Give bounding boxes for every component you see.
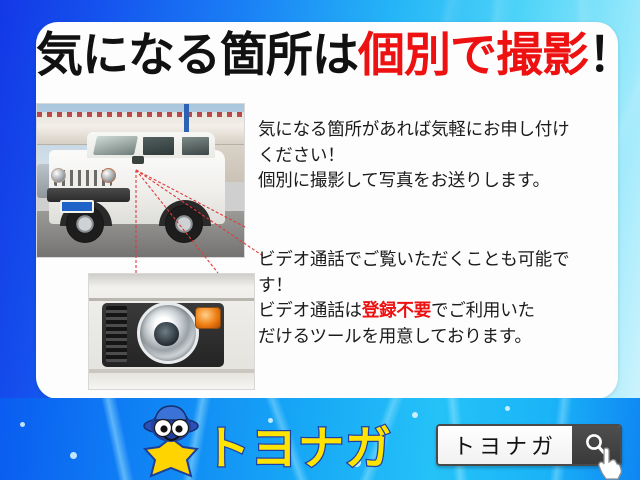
- search-input[interactable]: トヨナガ: [438, 426, 572, 464]
- closeup-headlight-lens: [137, 302, 199, 364]
- headline-part2-highlight: 個別で撮影: [358, 28, 588, 83]
- photo-side-window: [143, 137, 174, 155]
- network-node-dot: [20, 422, 25, 427]
- photo-rear-window: [182, 137, 209, 155]
- page-title: 気になる箇所は個別で撮影！: [36, 32, 618, 79]
- text1-line1: 気になる箇所があれば気軽にお申し付け: [258, 118, 610, 144]
- text2-line3-a: ビデオ通話は: [258, 301, 362, 321]
- text2-line3-b: でご利用いた: [431, 301, 535, 321]
- search-bar[interactable]: トヨナガ: [436, 424, 622, 466]
- photo-canopy-trim: [37, 112, 244, 117]
- closeup-panel-seam: [89, 298, 254, 301]
- closeup-grille-vent: [106, 306, 127, 362]
- photo-side-mirror: [132, 156, 144, 164]
- text2-line4: だけるツールを用意しております。: [258, 325, 610, 351]
- closeup-projector-bulb: [154, 322, 179, 347]
- mascot-character: [142, 404, 200, 478]
- text1-line2: ください！: [258, 144, 610, 170]
- text1-line3: 個別に撮影して写真をお送りします。: [258, 169, 610, 195]
- closeup-fender: [89, 373, 254, 389]
- content-card: 気になる箇所は個別で撮影！: [36, 22, 618, 399]
- closeup-turn-signal: [195, 307, 221, 329]
- text2-line1: ビデオ通話でご覧いただくことも可能で: [258, 248, 610, 274]
- description-block-1: 気になる箇所があれば気軽にお申し付け ください！ 個別に撮影して写真をお送りしま…: [258, 118, 610, 195]
- description-block-2: ビデオ通話でご覧いただくことも可能で す！ ビデオ通話は登録不要でご利用いた だ…: [258, 248, 610, 351]
- network-node-dot: [505, 406, 510, 411]
- headline-part1: 気になる箇所は: [36, 28, 358, 83]
- text2-highlight-no-registration: 登録不要: [362, 301, 431, 321]
- headline-part3: ！: [588, 28, 618, 83]
- text2-line3: ビデオ通話は登録不要でご利用いた: [258, 299, 610, 325]
- text2-line2: す！: [258, 274, 610, 300]
- network-node-dot: [70, 452, 77, 459]
- network-node-dot: [412, 412, 418, 418]
- photo-license-plate: [60, 200, 94, 213]
- photo-windshield: [93, 136, 138, 155]
- photo-car-exterior: [36, 103, 245, 258]
- hand-pointer-icon: [596, 446, 626, 480]
- photo-headlight-closeup: [88, 273, 255, 390]
- brand-logo-text: トヨナガ: [204, 412, 392, 478]
- closeup-hood-edge: [89, 274, 254, 287]
